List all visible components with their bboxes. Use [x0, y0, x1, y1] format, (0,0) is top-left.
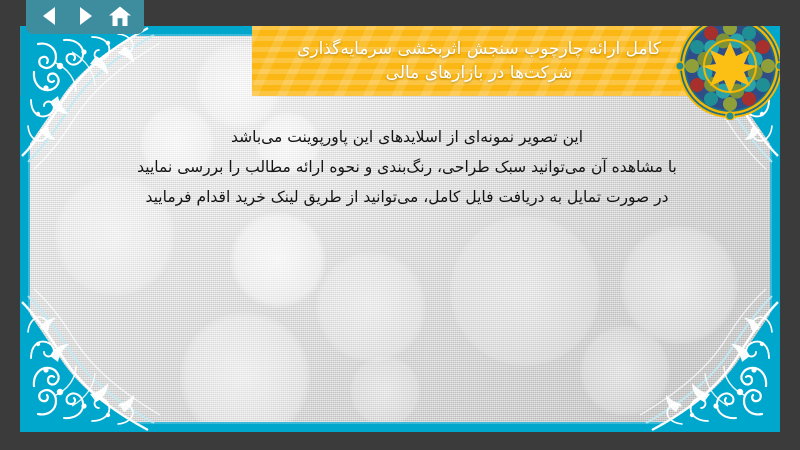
- body-line: این تصویر نمونه‌ای از اسلایدهای این پاور…: [80, 122, 734, 152]
- triangle-right-icon: [75, 5, 95, 27]
- banner-left-tab: [20, 26, 22, 96]
- slide-canvas: کامل ارائه چارچوب سنجش اثربخشی سرمایه‌گذ…: [20, 26, 780, 432]
- slide-body-text: این تصویر نمونه‌ای از اسلایدهای این پاور…: [80, 122, 734, 213]
- triangle-left-icon: [40, 5, 60, 27]
- persian-mandala-medallion: [676, 26, 780, 120]
- body-line: در صورت تمایل به دریافت فایل کامل، می‌تو…: [80, 182, 734, 212]
- slide-viewer: کامل ارائه چارچوب سنجش اثربخشی سرمایه‌گذ…: [0, 0, 800, 450]
- previous-slide-button[interactable]: [36, 3, 64, 29]
- home-icon: [108, 5, 132, 28]
- next-slide-button[interactable]: [71, 3, 99, 29]
- slide-title: کامل ارائه چارچوب سنجش اثربخشی سرمایه‌گذ…: [252, 26, 706, 96]
- home-button[interactable]: [106, 3, 134, 29]
- slide-navigation-bar: [26, 0, 144, 34]
- title-banner: کامل ارائه چارچوب سنجش اثربخشی سرمایه‌گذ…: [252, 26, 706, 96]
- body-line: با مشاهده آن می‌توانید سبک طراحی، رنگ‌بن…: [80, 152, 734, 182]
